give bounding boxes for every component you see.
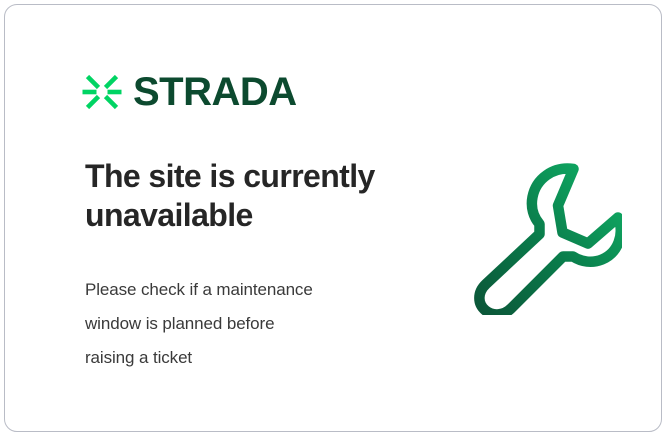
brand-logo: STRADA [81, 71, 297, 113]
error-page: STRADA The site is currently unavailable… [0, 0, 666, 436]
wrench-icon [457, 160, 622, 315]
description-line: Please check if a maintenance [85, 273, 395, 307]
page-description: Please check if a maintenance window is … [85, 273, 395, 375]
status-card: STRADA The site is currently unavailable… [4, 4, 662, 432]
description-line: window is planned before [85, 307, 395, 341]
strada-asterisk-icon [81, 71, 123, 113]
description-line: raising a ticket [85, 341, 395, 375]
page-title: The site is currently unavailable [85, 157, 415, 235]
brand-wordmark: STRADA [133, 72, 297, 112]
